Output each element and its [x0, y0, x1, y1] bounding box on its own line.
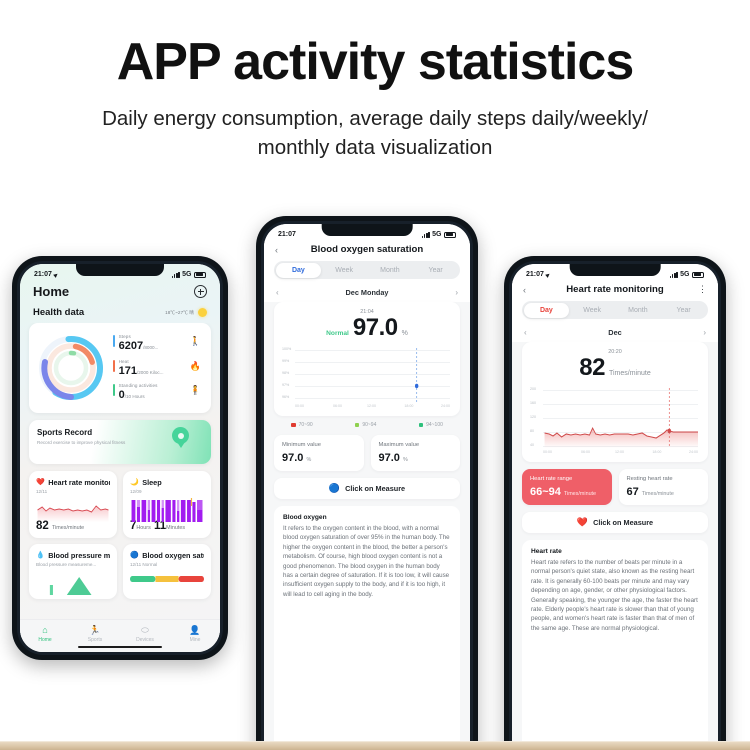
moon-icon: 🌙: [130, 479, 139, 486]
status-right: 5G: [172, 271, 206, 278]
home-topbar: Home: [20, 280, 220, 304]
tab-home[interactable]: ⌂ Home: [20, 626, 70, 644]
tab-sports[interactable]: 🏃 Sports: [70, 626, 120, 644]
back-icon[interactable]: ‹: [523, 285, 535, 295]
hr-article-body: Heart rate refers to the number of beats…: [531, 558, 699, 633]
mini-bp-title: Blood pressure monitoring: [48, 551, 110, 560]
spo2-min-value-row: 97.0 %: [282, 452, 356, 464]
metric-steps-sub: /8000...: [143, 345, 158, 350]
mini-spo2-date: 12/11 Normal: [130, 562, 204, 567]
mini-sleep-title: Sleep: [142, 478, 161, 487]
spo2-max-box: Maximum value 97.0 %: [371, 435, 461, 471]
next-date-icon[interactable]: ›: [696, 328, 706, 337]
prev-date-icon[interactable]: ‹: [276, 288, 286, 297]
add-button[interactable]: [194, 285, 207, 298]
phone-left-bezel: 21:07 5G Home Healt: [17, 261, 223, 655]
status-left: 21:07: [526, 271, 550, 278]
more-menu-icon[interactable]: ⋮: [695, 287, 707, 292]
spo2-max-label: Maximum value: [379, 442, 453, 450]
hr-resting-unit: Times/minute: [642, 491, 674, 497]
hr-reading-card: 20:20 82 Times/minute 200 160 120 80 40: [522, 342, 708, 462]
spo2-xtick-2: 12:00: [367, 404, 376, 408]
battery-icon: [444, 232, 456, 238]
spo2-legend: 70~90 90~94 94~100: [264, 416, 470, 428]
spo2-date-label: Dec Monday: [286, 288, 448, 297]
legend-item-low: 70~90: [291, 422, 313, 428]
page-title: APP activity statistics: [0, 34, 750, 90]
mini-bp-date: Blood pressure measureme...: [36, 562, 110, 567]
legend-item-mid: 90~94: [355, 422, 377, 428]
legend-item-high: 94~100: [419, 422, 443, 428]
legend-label-high: 94~100: [426, 422, 443, 428]
hr-resting-label: Resting heart rate: [627, 476, 701, 484]
metric-standing-text: Standing activities 0/10 Hours: [119, 383, 186, 402]
tab-month[interactable]: Month: [615, 303, 661, 318]
mini-heart-unit: Times/minute: [52, 525, 84, 531]
hr-date-bar: ‹ Dec ›: [512, 321, 718, 342]
spo2-article-title: Blood oxygen: [283, 514, 451, 521]
spo2-min-box: Minimum value 97.0 %: [274, 435, 364, 471]
heart-rate-sparkline: [36, 498, 110, 520]
spo2-max-value-row: 97.0 %: [379, 452, 453, 464]
phone-left-screen: 21:07 5G Home Healt: [20, 264, 220, 652]
spo2-page-title: Blood oxygen saturation: [287, 244, 447, 255]
hr-measure-label: Click on Measure: [593, 518, 653, 527]
mini-card-blood-oxygen[interactable]: 🔵 Blood oxygen saturation 12/11 Normal: [123, 544, 211, 599]
hr-range-unit: Times/minute: [564, 491, 596, 497]
mini-card-heart-rate[interactable]: ❤️ Heart rate monitoring 12/11: [29, 471, 117, 538]
notch: [570, 264, 661, 276]
health-metrics: Steps 6207/8000... 🚶: [113, 332, 203, 404]
hr-resting-box: Resting heart rate 67 Times/minute: [619, 469, 709, 505]
network-label: 5G: [432, 231, 441, 238]
tab-mine[interactable]: 👤 Mine: [170, 626, 220, 644]
spo2-article-body: It refers to the oxygen content in the b…: [283, 524, 451, 599]
mini-sleep-minutes-unit: Minutes: [166, 525, 185, 531]
tab-week[interactable]: Week: [321, 263, 367, 278]
sports-record-card[interactable]: Sports Record Record exercise to improve…: [29, 420, 211, 464]
walking-icon: 🚶: [190, 337, 201, 346]
blood-pressure-sparkline: [36, 571, 110, 593]
status-time: 21:07: [34, 271, 52, 278]
mini-spo2-head: 🔵 Blood oxygen saturation: [130, 551, 204, 560]
hr-range-value-row: 66~94 Times/minute: [530, 486, 604, 498]
hr-xtick-3: 18:00: [652, 450, 661, 454]
legend-label-low: 70~90: [299, 422, 313, 428]
hr-reading-row: 82 Times/minute: [530, 354, 700, 382]
mini-heart-head: ❤️ Heart rate monitoring: [36, 478, 110, 487]
spo2-min-unit: %: [306, 457, 311, 463]
tab-day[interactable]: Day: [524, 303, 570, 318]
hr-page-title: Heart rate monitoring: [535, 284, 695, 295]
metric-heat[interactable]: Heat 171/2000 Kiloc... 🔥: [113, 359, 201, 378]
network-label: 5G: [182, 271, 191, 278]
battery-icon: [194, 272, 206, 278]
spo2-xtick-3: 18:00: [404, 404, 413, 408]
spo2-reading-card: 21:04 Normal 97.0 % 100% 99% 98% 97% 96%: [274, 302, 460, 416]
weather-widget[interactable]: 18℃~27℃ 晴: [165, 308, 207, 317]
hr-measure-button[interactable]: ❤️ Click on Measure: [522, 512, 708, 533]
mini-card-blood-pressure[interactable]: 💧 Blood pressure monitoring Blood pressu…: [29, 544, 117, 599]
spo2-xtick-1: 06:00: [333, 404, 342, 408]
signal-icon: [670, 272, 678, 278]
mini-heart-title: Heart rate monitoring: [48, 478, 110, 487]
mini-spo2-title: Blood oxygen saturation: [142, 551, 204, 560]
hr-navbar: ‹ Heart rate monitoring ⋮: [512, 280, 718, 301]
hr-date-label: Dec: [534, 328, 696, 337]
phone-center-screen: 21:07 5G ‹ Blood oxygen saturation: [264, 224, 470, 750]
metric-standing[interactable]: Standing activities 0/10 Hours 🧍: [113, 383, 201, 402]
home-indicator: [78, 646, 162, 649]
spo2-chart-svg: [295, 346, 450, 404]
spo2-xtick-4: 24:00: [441, 404, 450, 408]
notch: [322, 224, 413, 236]
metric-steps-value: 6207: [119, 340, 143, 352]
spo2-ytick-2: 98%: [282, 371, 289, 375]
mini-bp-head: 💧 Blood pressure monitoring: [36, 551, 110, 560]
status-left: 21:07: [34, 271, 58, 278]
spo2-ytick-3: 97%: [282, 383, 289, 387]
mini-sleep-hours-unit: Hours: [136, 525, 150, 531]
blood-oxygen-icon: 🔵: [329, 484, 340, 493]
heart-icon: ❤️: [36, 479, 45, 486]
spo2-min-value: 97.0: [282, 452, 303, 464]
droplet-icon: 💧: [36, 552, 45, 559]
hr-resting-value-row: 67 Times/minute: [627, 486, 701, 498]
hr-ytick-2: 120: [530, 415, 536, 419]
mini-sleep-head: 🌙 Sleep: [130, 478, 204, 487]
phone-right: 21:07 5G ‹ Heart rate monitoring ⋮: [504, 256, 726, 750]
tab-day[interactable]: Day: [276, 263, 322, 278]
heart-icon: ❤️: [577, 518, 588, 527]
spo2-value: 97.0: [353, 314, 398, 342]
spo2-status-badge: Normal: [326, 330, 349, 337]
location-arrow-icon: [53, 272, 59, 278]
spo2-ytick-0: 100%: [282, 347, 291, 351]
network-label: 5G: [680, 271, 689, 278]
spo2-reading-row: Normal 97.0 %: [282, 314, 452, 342]
hr-chart-svg: [543, 386, 698, 450]
battery-icon: [692, 272, 704, 278]
sleep-bars: [130, 498, 204, 520]
spo2-max-value: 97.0: [379, 452, 400, 464]
hr-xtick-0: 00:00: [543, 450, 552, 454]
runner-icon: 🏃: [70, 626, 120, 635]
mini-heart-date: 12/11: [36, 489, 110, 494]
sun-icon: [198, 308, 207, 317]
hr-range-label: Heart rate range: [530, 476, 604, 484]
hr-ytick-1: 160: [530, 401, 536, 405]
hr-unit: Times/minute: [609, 370, 651, 377]
page-subtitle: Daily energy consumption, average daily …: [0, 104, 750, 162]
signal-icon: [422, 232, 430, 238]
health-data-header: Health data 18℃~27℃ 晴: [20, 304, 220, 323]
hr-ytick-4: 40: [530, 443, 534, 447]
watch-icon: ⬭: [120, 626, 170, 635]
hr-ytick-0: 200: [530, 387, 536, 391]
weather-temp: 18℃~27℃ 晴: [165, 310, 194, 316]
prev-date-icon[interactable]: ‹: [524, 328, 534, 337]
phone-center: 21:07 5G ‹ Blood oxygen saturation: [256, 216, 478, 750]
bottom-wood-strip: [0, 741, 750, 750]
phone-right-bezel: 21:07 5G ‹ Heart rate monitoring ⋮: [509, 261, 721, 750]
tab-devices[interactable]: ⬭ Devices: [120, 626, 170, 644]
metric-heat-label: Heat: [119, 359, 129, 364]
location-arrow-icon: [545, 272, 551, 278]
metric-steps[interactable]: Steps 6207/8000... 🚶: [113, 334, 201, 353]
metric-standing-label: Standing activities: [119, 383, 158, 388]
hr-article: Heart rate Heart rate refers to the numb…: [522, 540, 708, 750]
spo2-chart[interactable]: 100% 99% 98% 97% 96% 00:00 06:00 12:00: [282, 346, 452, 408]
phone-center-bezel: 21:07 5G ‹ Blood oxygen saturation: [261, 221, 473, 750]
spo2-measure-label: Click on Measure: [345, 484, 405, 493]
tab-sports-label: Sports: [70, 637, 120, 643]
metric-heat-value: 171: [119, 365, 137, 377]
spo2-unit: %: [402, 330, 408, 337]
metric-heat-sub: /2000 Kiloc...: [137, 370, 164, 375]
metric-heat-text: Heat 171/2000 Kiloc...: [119, 359, 186, 378]
spo2-date-bar: ‹ Dec Monday ›: [264, 281, 470, 302]
home-title: Home: [33, 284, 69, 299]
mini-sleep-date: 12/09: [130, 489, 204, 494]
metric-standing-sub: /10 Hours: [125, 394, 145, 399]
hr-stats: Heart rate range 66~94 Times/minute Rest…: [522, 469, 708, 505]
legend-swatch-low: [291, 423, 296, 428]
page-header: APP activity statistics Daily energy con…: [0, 0, 750, 162]
spo2-navbar: ‹ Blood oxygen saturation: [264, 240, 470, 261]
tab-year[interactable]: Year: [661, 303, 707, 318]
person-icon: 👤: [170, 626, 220, 635]
legend-swatch-mid: [355, 423, 360, 428]
spo2-period-tabs: Day Week Month Year: [274, 261, 460, 279]
blood-oxygen-icon: 🔵: [130, 552, 139, 559]
activity-rings-svg: [35, 332, 107, 404]
legend-label-mid: 90~94: [362, 422, 376, 428]
home-icon: ⌂: [20, 626, 70, 635]
hr-xtick-2: 12:00: [615, 450, 624, 454]
blood-oxygen-bar: [130, 574, 204, 588]
metric-steps-label: Steps: [119, 334, 131, 339]
legend-swatch-high: [419, 423, 424, 428]
health-data-card[interactable]: Steps 6207/8000... 🚶: [29, 323, 211, 413]
fire-icon: 🔥: [190, 362, 201, 371]
spo2-ytick-4: 96%: [282, 395, 289, 399]
tab-year[interactable]: Year: [413, 263, 459, 278]
mini-card-sleep[interactable]: 🌙 Sleep 12/09: [123, 471, 211, 538]
location-pin-icon: [172, 427, 189, 449]
next-date-icon[interactable]: ›: [448, 288, 458, 297]
status-right: 5G: [422, 231, 456, 238]
hr-article-title: Heart rate: [531, 548, 699, 555]
hr-xtick-4: 24:00: [689, 450, 698, 454]
spo2-measure-button[interactable]: 🔵 Click on Measure: [274, 478, 460, 499]
status-time: 21:07: [278, 231, 296, 238]
health-data-title: Health data: [33, 307, 84, 318]
home-scroll[interactable]: Steps 6207/8000... 🚶: [20, 323, 220, 619]
phone-right-screen: 21:07 5G ‹ Heart rate monitoring ⋮: [512, 264, 718, 750]
mini-card-grid: ❤️ Heart rate monitoring 12/11: [29, 471, 211, 599]
spo2-stats: Minimum value 97.0 % Maximum value 97.0 …: [274, 435, 460, 471]
hr-xtick-1: 06:00: [581, 450, 590, 454]
hr-chart[interactable]: 200 160 120 80 40: [530, 386, 700, 454]
tab-devices-label: Devices: [120, 637, 170, 643]
tab-mine-label: Mine: [170, 637, 220, 643]
spo2-article: Blood oxygen It refers to the oxygen con…: [274, 506, 460, 750]
spo2-xtick-0: 00:00: [295, 404, 304, 408]
tab-week[interactable]: Week: [569, 303, 615, 318]
metric-heat-bar: [113, 360, 115, 372]
activity-rings: [35, 332, 107, 404]
status-time: 21:07: [526, 271, 544, 278]
status-left: 21:07: [278, 231, 296, 238]
spo2-min-label: Minimum value: [282, 442, 356, 450]
metric-steps-text: Steps 6207/8000...: [119, 334, 186, 353]
signal-icon: [172, 272, 180, 278]
standing-icon: 🧍: [190, 386, 201, 395]
hr-ytick-3: 80: [530, 429, 534, 433]
home-content: 21:07 5G Home Healt: [20, 264, 220, 652]
metric-steps-bar: [113, 335, 115, 347]
tab-home-label: Home: [20, 637, 70, 643]
tab-month[interactable]: Month: [367, 263, 413, 278]
hr-period-tabs: Day Week Month Year: [522, 301, 708, 319]
hr-range-box: Heart rate range 66~94 Times/minute: [522, 469, 612, 505]
phones-stage: 21:07 5G Home Healt: [0, 200, 750, 680]
spo2-max-unit: %: [403, 457, 408, 463]
hr-resting-value: 67: [627, 486, 639, 498]
phone-left: 21:07 5G Home Healt: [12, 256, 228, 660]
metric-standing-bar: [113, 384, 115, 396]
hr-value: 82: [579, 354, 605, 382]
notch: [76, 264, 164, 276]
back-icon[interactable]: ‹: [275, 245, 287, 255]
status-right: 5G: [670, 271, 704, 278]
hr-range-value: 66~94: [530, 486, 561, 498]
spo2-ytick-1: 99%: [282, 359, 289, 363]
